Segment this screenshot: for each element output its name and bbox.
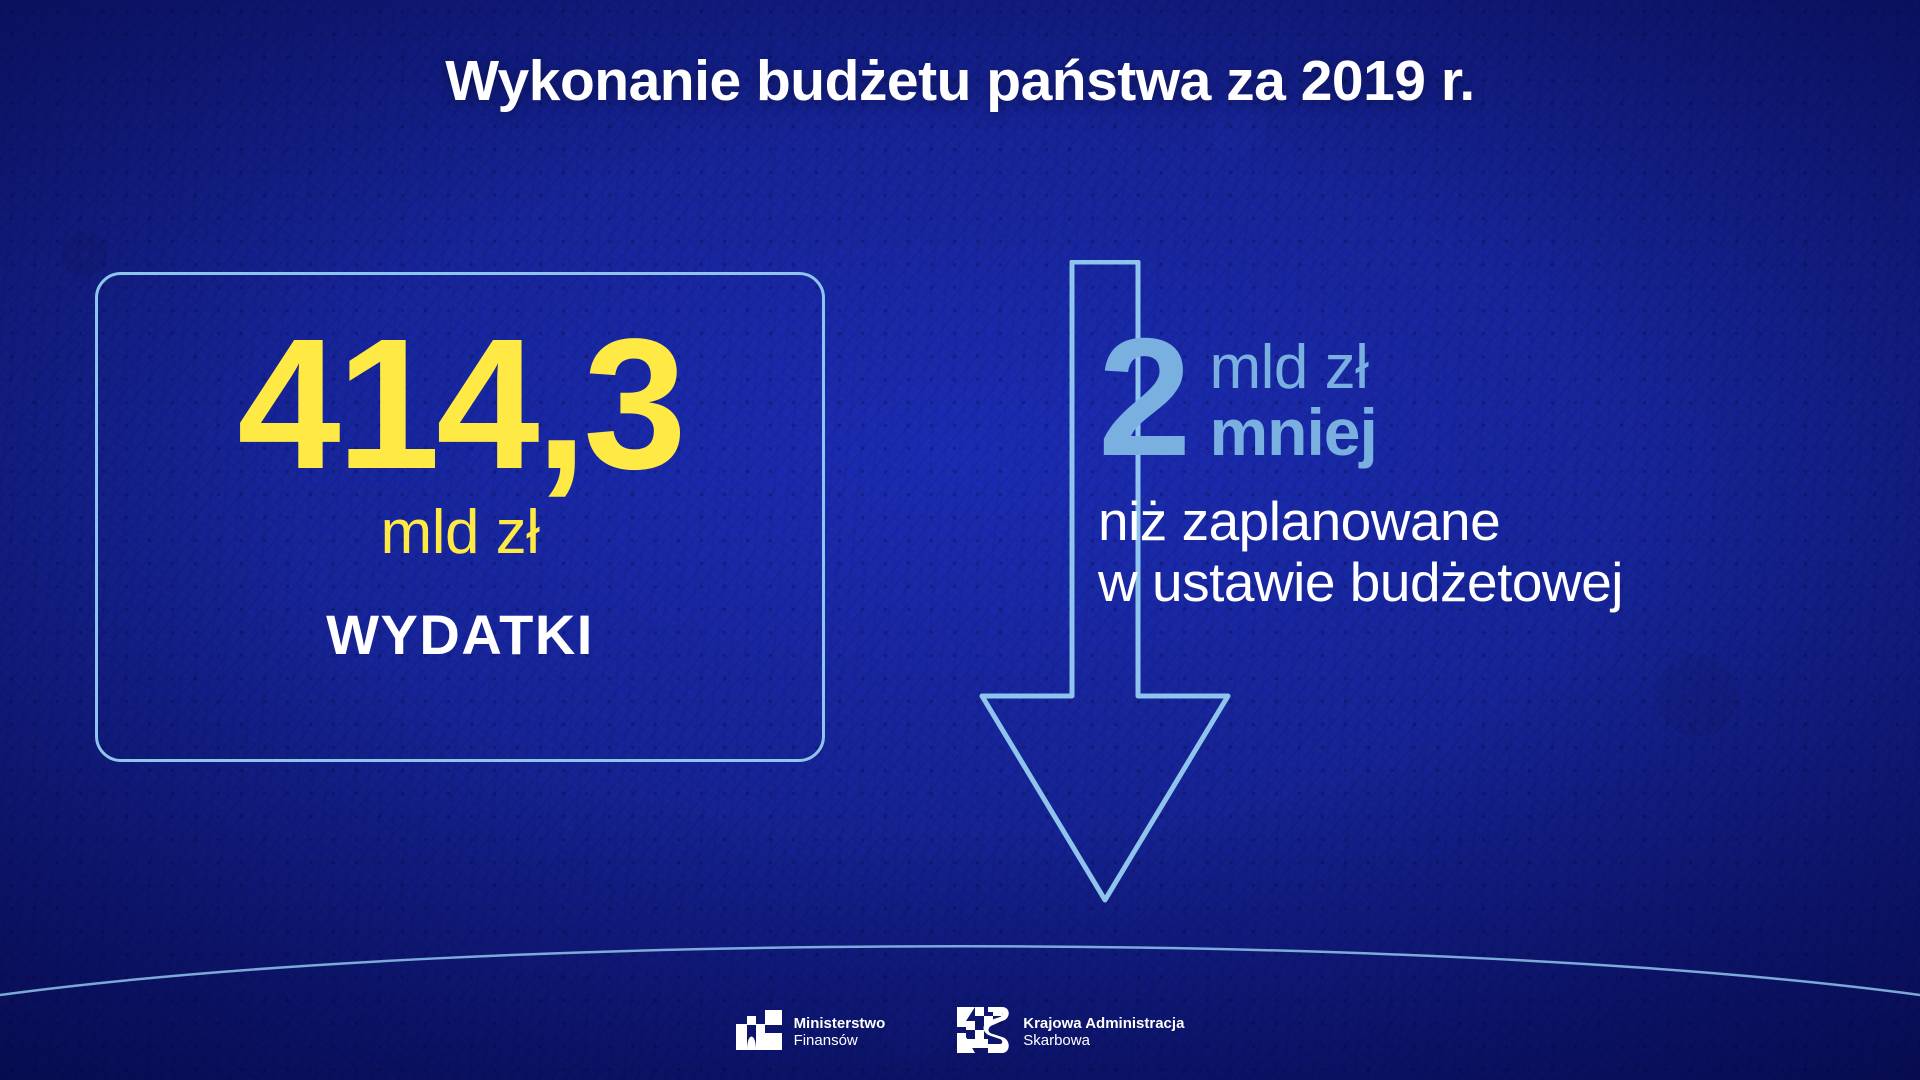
kas-logo-text: Krajowa Administracja Skarbowa	[1023, 1016, 1184, 1050]
page-title: Wykonanie budżetu państwa za 2019 r.	[0, 48, 1920, 114]
mf-logo-line1: Ministerstwo	[794, 1016, 886, 1033]
comparison-note-line1: niż zaplanowane	[1098, 491, 1838, 553]
ministry-of-finance-logo: Ministerstwo Finansów	[736, 1010, 886, 1055]
kas-logo-line1: Krajowa Administracja	[1023, 1016, 1184, 1033]
comparison-value: 2	[1098, 330, 1187, 464]
expenditure-label: WYDATKI	[326, 602, 594, 667]
comparison-unit: mld zł	[1209, 336, 1376, 399]
mf-logo-text: Ministerstwo Finansów	[794, 1016, 886, 1050]
infographic-canvas: Wykonanie budżetu państwa za 2019 r. 414…	[0, 0, 1920, 1080]
kas-logo-line2: Skarbowa	[1023, 1033, 1184, 1050]
comparison-direction: mniej	[1209, 399, 1376, 466]
kas-logo-icon	[957, 1007, 1011, 1058]
comparison-block: 2 mld zł mniej niż zaplanowane w ustawie…	[1098, 330, 1838, 614]
expenditure-card: 414,3 mld zł WYDATKI	[95, 272, 825, 762]
footer-logos: Ministerstwo Finansów	[0, 1007, 1920, 1058]
mf-logo-icon	[736, 1010, 782, 1055]
kas-logo: Krajowa Administracja Skarbowa	[957, 1007, 1184, 1058]
expenditure-unit: mld zł	[381, 502, 540, 564]
mf-logo-line2: Finansów	[794, 1033, 886, 1050]
comparison-note: niż zaplanowane w ustawie budżetowej	[1098, 491, 1838, 614]
expenditure-value: 414,3	[237, 319, 682, 490]
comparison-note-line2: w ustawie budżetowej	[1098, 552, 1838, 614]
